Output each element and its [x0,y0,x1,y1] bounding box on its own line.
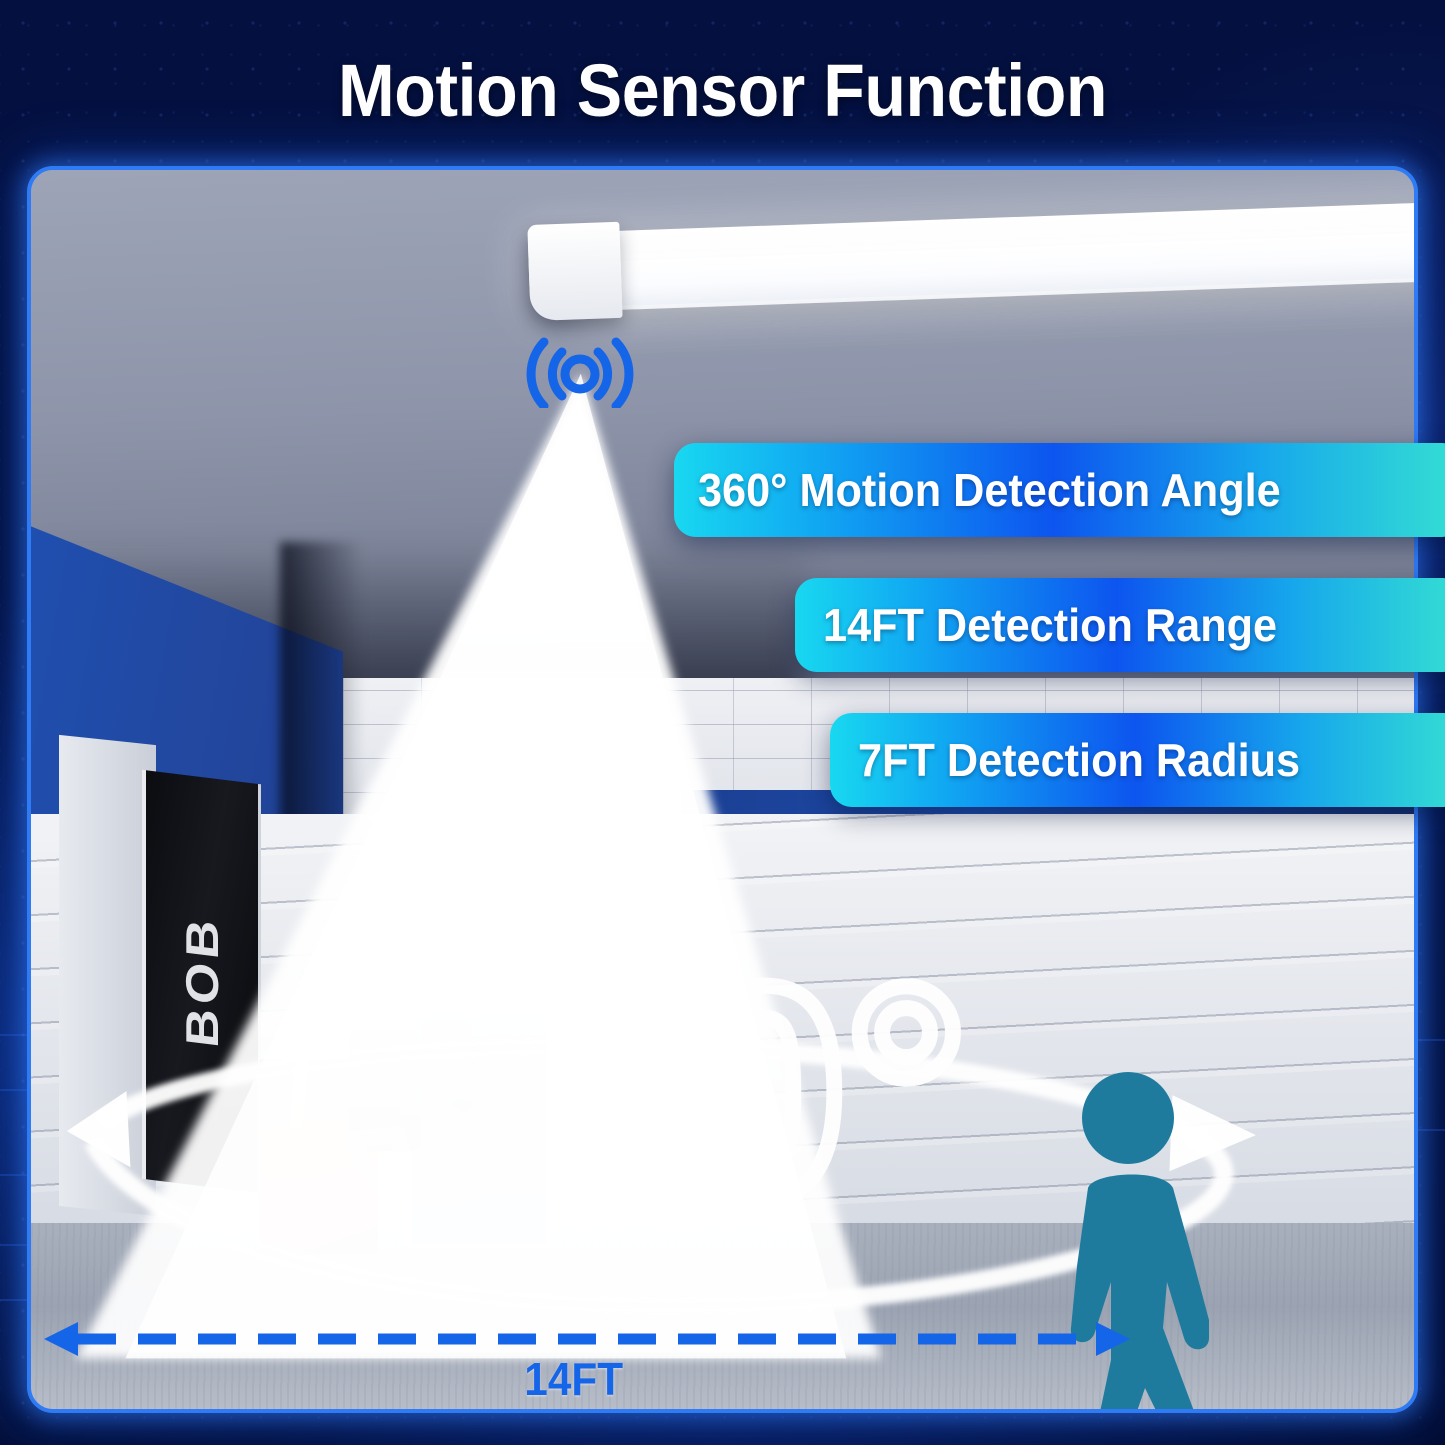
dark-gear-b [421,1020,471,1113]
wall-banner: BOB [142,770,261,1193]
arrow-head-right [1096,1322,1130,1356]
dimension-arrow [44,1322,1130,1356]
dimension-label: 14FT [524,1352,623,1406]
banner-text: BOB [175,913,229,1051]
feature-badge-label: 360° Motion Detection Angle [698,463,1281,517]
feature-badge-detection-range[interactable]: 14FT Detection Range [795,578,1445,672]
arrow-head-left [44,1322,78,1356]
feature-badge-detection-radius[interactable]: 7FT Detection Radius [830,713,1445,807]
person-head [1082,1072,1174,1164]
infographic-root: Motion Sensor Function BOB [0,0,1445,1445]
walking-person-icon [1041,1070,1251,1409]
person-body [1071,1174,1214,1409]
fixture-end-cap [527,222,622,322]
dark-gear-a [349,1031,421,1151]
garage-clutter [252,988,612,1261]
page-title: Motion Sensor Function [58,48,1387,133]
garage-door-frame [59,735,156,1216]
feature-badge-detection-angle[interactable]: 360° Motion Detection Angle [674,443,1445,537]
feature-badge-label: 7FT Detection Radius [858,733,1300,787]
feature-badge-label: 14FT Detection Range [823,598,1277,652]
motion-sensor-icon [516,336,644,408]
